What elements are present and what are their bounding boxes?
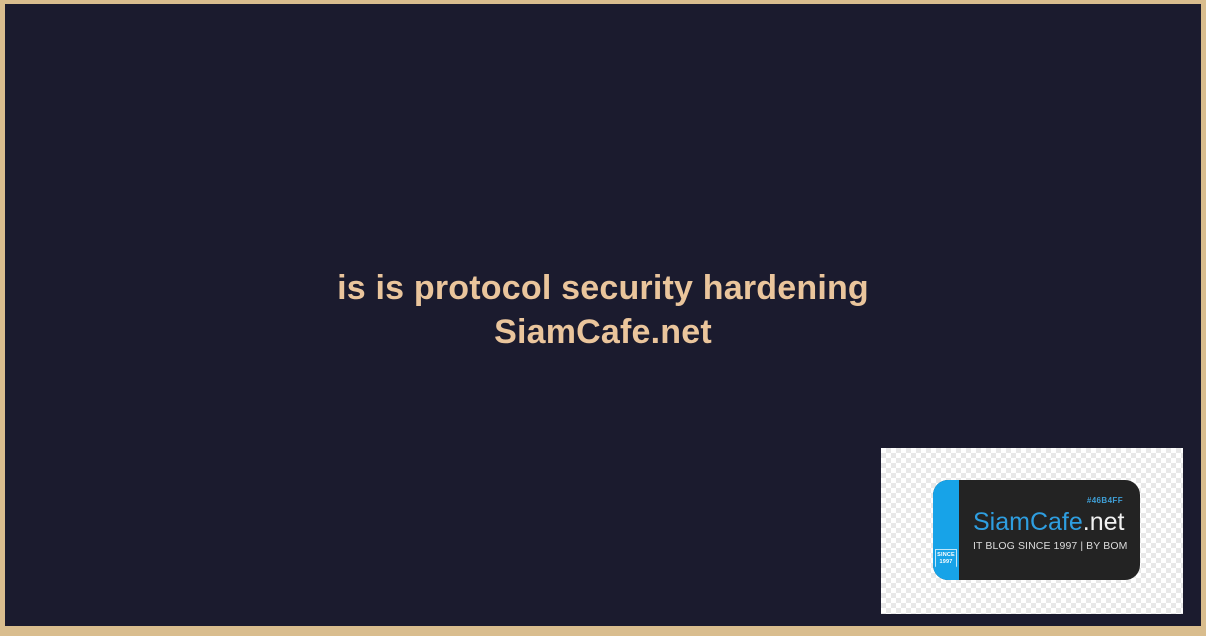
logo-image-panel: SINCE 1997 #46B4FF SiamCafe.net IT BLOG … bbox=[881, 448, 1183, 614]
logo-wordmark-tld: .net bbox=[1083, 508, 1125, 536]
logo-wordmark: SiamCafe.net bbox=[973, 508, 1124, 536]
since-1997-badge: SINCE 1997 bbox=[935, 549, 957, 577]
page-canvas: is is protocol security hardening SiamCa… bbox=[5, 4, 1201, 626]
logo-tagline: IT BLOG SINCE 1997 | BY BOM bbox=[973, 540, 1127, 553]
page-title: is is protocol security hardening SiamCa… bbox=[5, 266, 1201, 354]
since-badge-text: SINCE 1997 bbox=[935, 552, 957, 565]
logo-accent-bar: SINCE 1997 bbox=[933, 480, 959, 580]
since-badge-line-2: 1997 bbox=[935, 559, 957, 566]
siamcafe-logo-card: SINCE 1997 #46B4FF SiamCafe.net IT BLOG … bbox=[933, 480, 1140, 580]
logo-wordmark-brand: SiamCafe bbox=[973, 508, 1083, 536]
since-badge-line-1: SINCE bbox=[935, 552, 957, 559]
page-frame: is is protocol security hardening SiamCa… bbox=[0, 0, 1206, 636]
hex-color-label: #46B4FF bbox=[1087, 496, 1123, 505]
page-title-line-1: is is protocol security hardening bbox=[65, 266, 1141, 310]
logo-card-content: #46B4FF SiamCafe.net IT BLOG SINCE 1997 … bbox=[959, 480, 1140, 580]
page-title-line-2: SiamCafe.net bbox=[65, 310, 1141, 354]
